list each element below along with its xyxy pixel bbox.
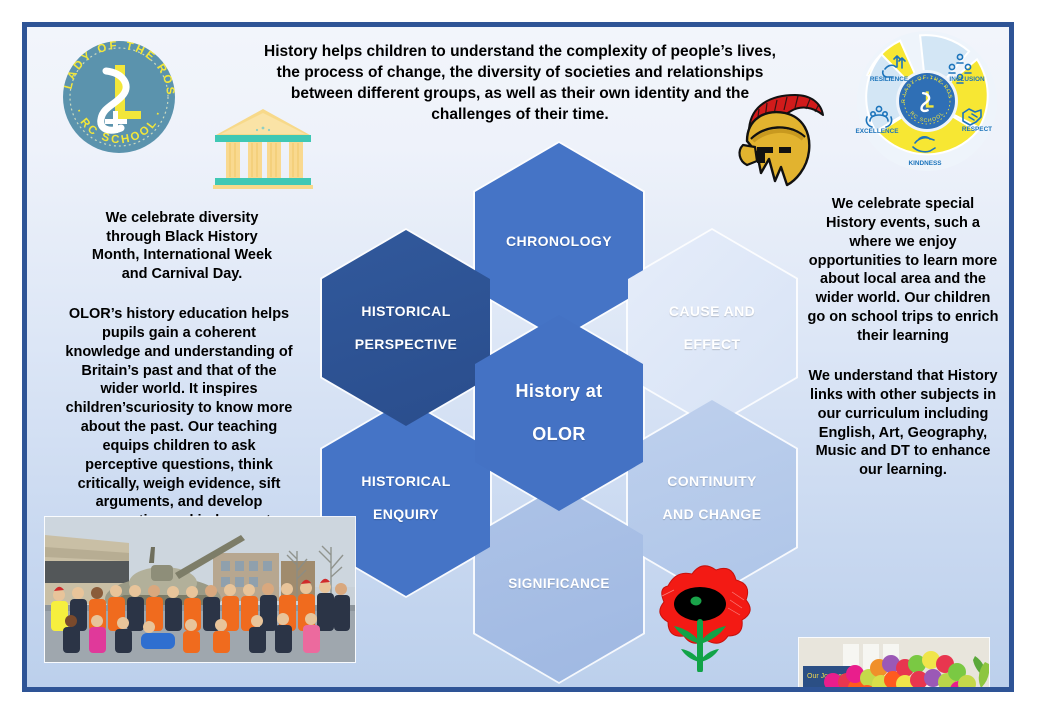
- poster-border: [22, 22, 1014, 692]
- history-curriculum-poster: History helps children to understand the…: [0, 0, 1040, 720]
